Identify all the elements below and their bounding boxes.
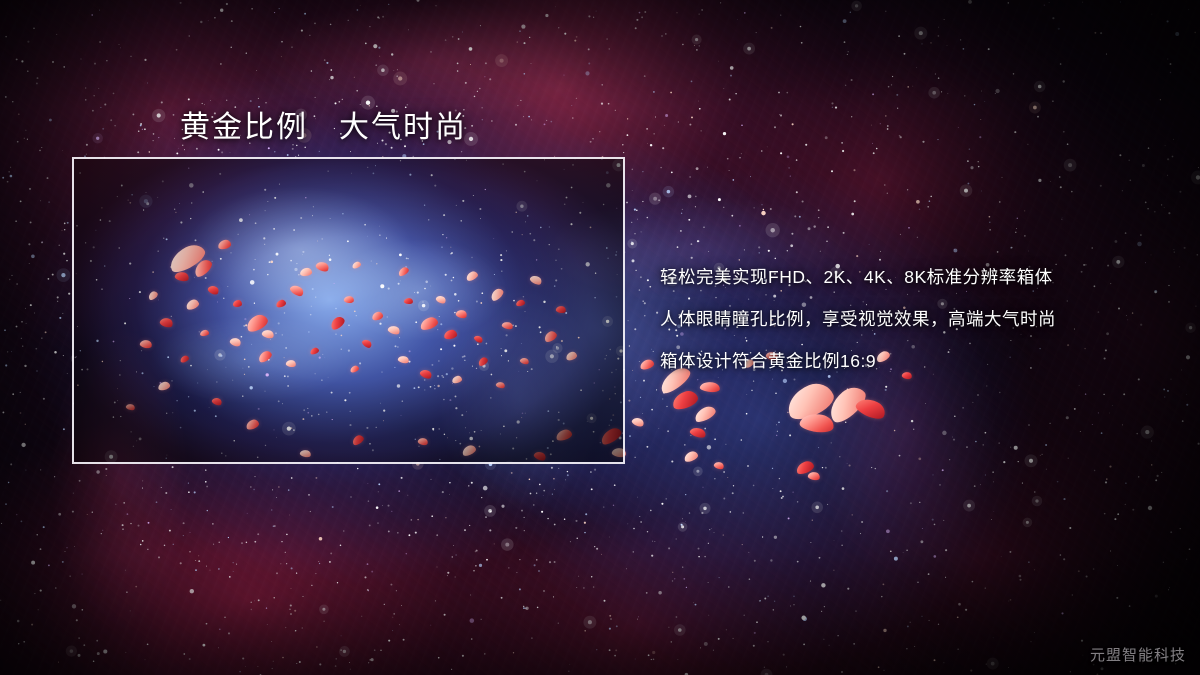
presentation-slide: 黄金比例 大气时尚 轻松完美实现FHD、2K、4K、8K标准分辨率箱体 人体眼睛… <box>0 0 1200 675</box>
page-title: 黄金比例 大气时尚 <box>180 102 467 146</box>
petal <box>639 358 655 370</box>
petal <box>799 411 836 435</box>
petal <box>683 450 699 463</box>
body-line-1: 轻松完美实现FHD、2K、4K、8K标准分辨率箱体 <box>660 256 1180 298</box>
petal <box>854 394 888 422</box>
body-line-2: 人体眼睛瞳孔比例，享受视觉效果，高端大气时尚 <box>660 298 1180 340</box>
petal <box>670 388 700 411</box>
watermark: 元盟智能科技 <box>1090 644 1186 665</box>
body-line-3: 箱体设计符合黄金比例16:9 <box>660 340 1180 382</box>
petal <box>807 471 821 482</box>
framed-image-vignette <box>74 159 623 462</box>
petal <box>823 381 871 426</box>
framed-image <box>72 157 625 464</box>
petal <box>713 460 725 470</box>
petal <box>692 404 717 424</box>
framed-image-clip <box>74 159 623 462</box>
petal <box>782 378 838 424</box>
petal <box>631 416 645 428</box>
petal <box>689 426 707 440</box>
petal <box>795 459 816 475</box>
petal <box>699 381 720 394</box>
body-copy: 轻松完美实现FHD、2K、4K、8K标准分辨率箱体 人体眼睛瞳孔比例，享受视觉效… <box>660 256 1180 382</box>
